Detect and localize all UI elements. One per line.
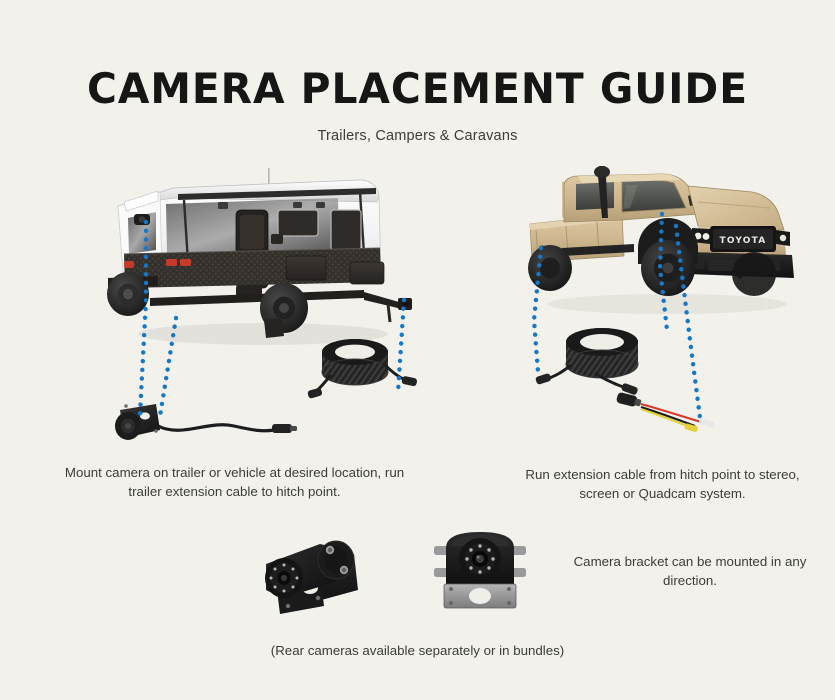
caption-mount-camera: Mount camera on trailer or vehicle at de… <box>62 463 407 501</box>
extension-cable-coil-right <box>552 318 667 398</box>
vehicle-grille-badge: TOYOTA <box>720 236 767 246</box>
page-title: CAMERA PLACEMENT GUIDE <box>13 68 823 110</box>
page-subtitle: Trailers, Campers & Caravans <box>0 128 835 144</box>
camera-product-angled <box>258 528 378 614</box>
infographic-root: CAMERA PLACEMENT GUIDE Trailers, Campers… <box>0 0 835 700</box>
rca-adapter-cable <box>615 388 725 434</box>
caravan-illustration <box>88 158 418 348</box>
camera-product-front <box>428 528 532 612</box>
camera-module-with-cable <box>112 396 312 452</box>
caption-run-extension: Run extension cable from hitch point to … <box>505 465 820 503</box>
vehicle-illustration: TOYOTA <box>502 152 822 332</box>
caption-bracket-direction: Camera bracket can be mounted in any dir… <box>545 552 835 590</box>
caption-footer-note: (Rear cameras available separately or in… <box>0 641 835 660</box>
extension-cable-coil-left <box>312 330 417 402</box>
caravan-rear-camera <box>134 214 150 225</box>
